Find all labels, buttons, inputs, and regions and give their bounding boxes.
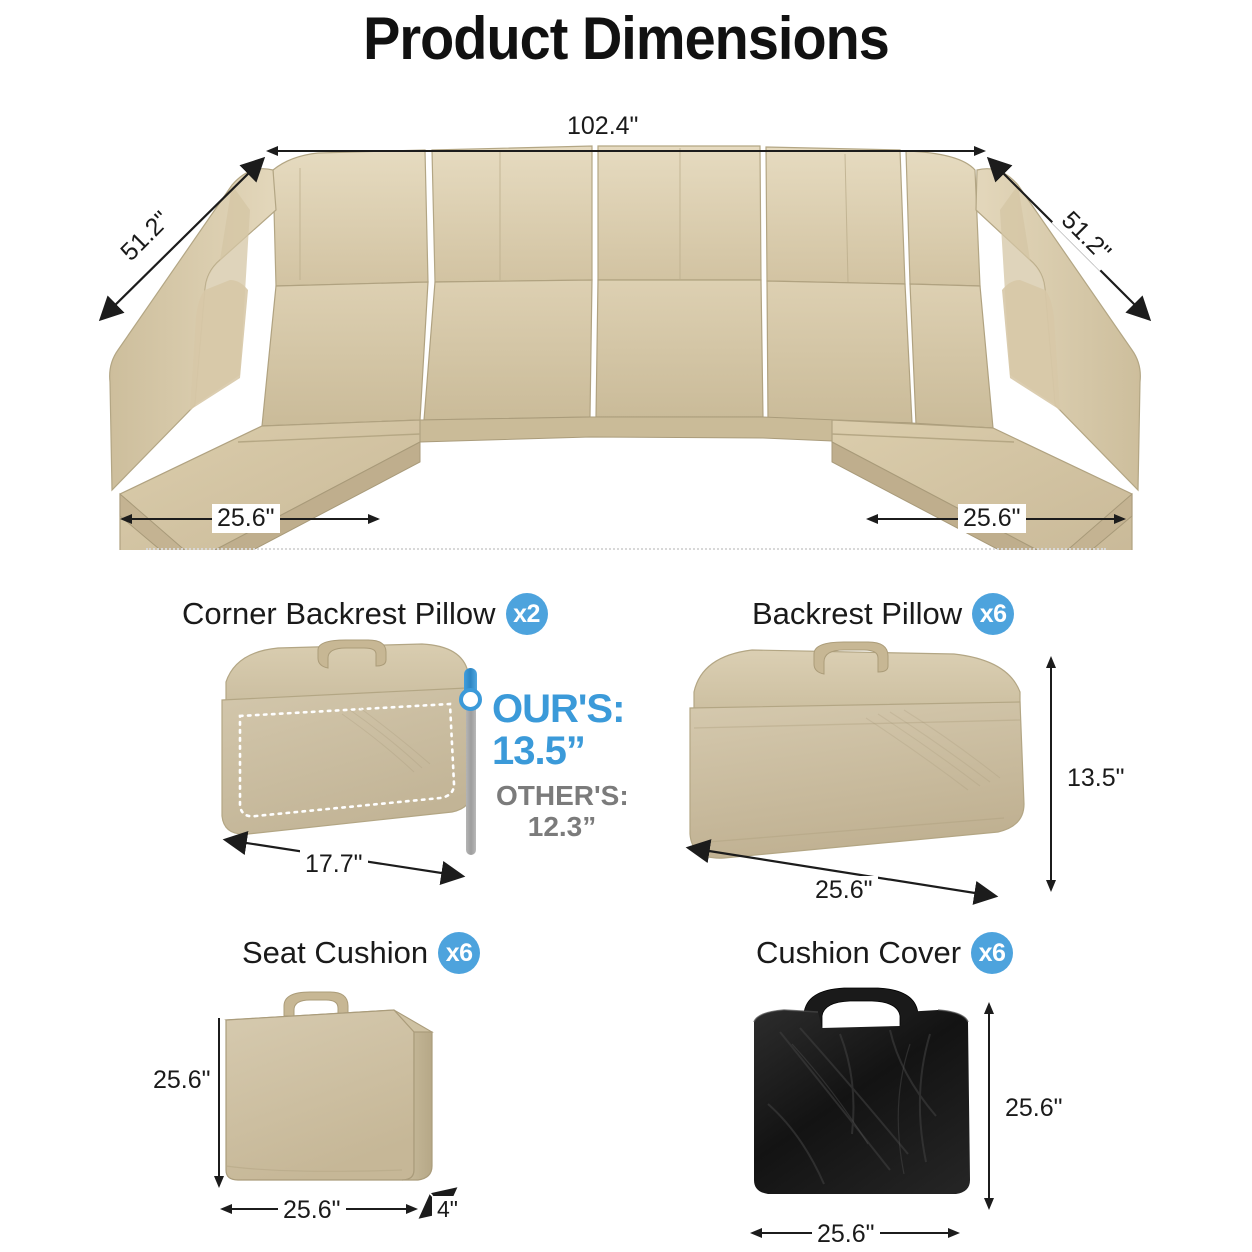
sofa-right-bottom-label: 25.6" bbox=[958, 504, 1026, 533]
sofa-left-bottom-label: 25.6" bbox=[212, 504, 280, 533]
section-title-cushion-cover: Cushion Cover bbox=[756, 935, 961, 971]
sofa-right-bottom-arrow-right bbox=[1114, 514, 1126, 524]
others-label: OTHER'S: bbox=[496, 780, 628, 811]
section-title-seat-cushion: Seat Cushion bbox=[242, 935, 428, 971]
corner-pillow-width-label: 17.7" bbox=[300, 850, 368, 879]
section-header-seat-cushion: Seat Cushion x6 bbox=[242, 932, 480, 974]
cushion-cover-width-label: 25.6" bbox=[812, 1220, 880, 1249]
page-title: Product Dimensions bbox=[44, 4, 1208, 73]
sofa-right-depth-line bbox=[980, 90, 1252, 350]
cushion-cover-height-arrow-up bbox=[984, 1002, 994, 1014]
qty-badge-cushion-cover: x6 bbox=[971, 932, 1013, 974]
sofa-diagram: 102.4" 51.2" 51.2" 25.6" bbox=[0, 90, 1252, 550]
cushion-cover-illustration bbox=[740, 984, 1010, 1224]
backrest-pillow-height-arrow-up bbox=[1046, 656, 1056, 668]
ours-label: OUR'S: bbox=[492, 688, 624, 730]
section-title-corner-backrest-pillow: Corner Backrest Pillow bbox=[182, 596, 496, 632]
qty-badge-seat-cushion: x6 bbox=[438, 932, 480, 974]
sofa-width-label: 102.4" bbox=[562, 112, 643, 141]
others-callout: OTHER'S: 12.3” bbox=[496, 780, 628, 843]
seat-cushion-illustration bbox=[212, 984, 472, 1204]
product-dimensions-infographic: Product Dimensions bbox=[0, 0, 1252, 1252]
cushion-cover-height-line bbox=[988, 1012, 990, 1202]
thickness-gauge-bar bbox=[466, 690, 476, 855]
backrest-pillow-width-label: 25.6" bbox=[810, 876, 878, 905]
ours-value: 13.5” bbox=[492, 730, 624, 772]
seat-cushion-depth-label: 4" bbox=[432, 1196, 463, 1223]
seat-cushion-width-arrow-left bbox=[220, 1204, 232, 1214]
section-header-cushion-cover: Cushion Cover x6 bbox=[756, 932, 1013, 974]
backrest-pillow-height-label: 13.5" bbox=[1062, 764, 1130, 793]
seat-cushion-width-label: 25.6" bbox=[278, 1196, 346, 1225]
seat-cushion-height-label: 25.6" bbox=[148, 1066, 216, 1095]
thickness-gauge-marker bbox=[459, 688, 482, 711]
section-header-backrest-pillow: Backrest Pillow x6 bbox=[752, 593, 1014, 635]
cushion-cover-width-arrow-left bbox=[750, 1228, 762, 1238]
seat-cushion-height-line bbox=[218, 1018, 220, 1180]
sofa-width-line bbox=[274, 150, 978, 152]
backrest-pillow-height-line bbox=[1050, 666, 1052, 884]
cushion-cover-height-label: 25.6" bbox=[1000, 1094, 1068, 1123]
sofa-left-bottom-arrow-left bbox=[120, 514, 132, 524]
seat-cushion-height-arrow-down bbox=[214, 1176, 224, 1188]
ours-callout: OUR'S: 13.5” bbox=[492, 688, 624, 772]
cushion-cover-width-arrow-right bbox=[948, 1228, 960, 1238]
section-header-corner-backrest-pillow: Corner Backrest Pillow x2 bbox=[182, 593, 548, 635]
backrest-pillow-height-arrow-down bbox=[1046, 880, 1056, 892]
qty-badge-corner-backrest-pillow: x2 bbox=[506, 593, 548, 635]
sofa-left-bottom-arrow-right bbox=[368, 514, 380, 524]
sofa-right-bottom-arrow-left bbox=[866, 514, 878, 524]
section-title-backrest-pillow: Backrest Pillow bbox=[752, 596, 962, 632]
corner-backrest-pillow-illustration bbox=[200, 638, 490, 853]
qty-badge-backrest-pillow: x6 bbox=[972, 593, 1014, 635]
cushion-cover-height-arrow-down bbox=[984, 1198, 994, 1210]
others-value: 12.3” bbox=[496, 811, 628, 842]
section-divider bbox=[146, 548, 1106, 550]
